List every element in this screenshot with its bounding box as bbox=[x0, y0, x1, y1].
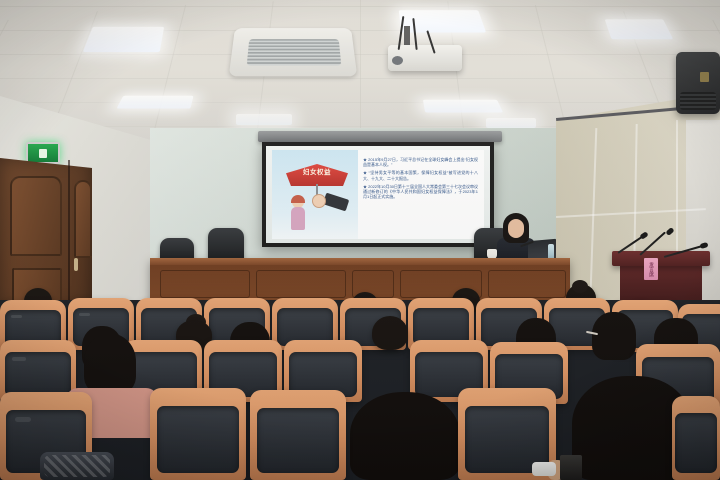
lectern-top bbox=[612, 251, 710, 266]
head-table-top bbox=[150, 258, 570, 265]
seat-notch bbox=[11, 315, 23, 318]
table-front-panel bbox=[160, 270, 250, 298]
table-front-panel bbox=[488, 270, 566, 298]
coffee-cup-lid[interactable] bbox=[532, 462, 556, 476]
slide-paragraph-1: ★ 2015年9月27日，习近平总书记在全球妇女峰会上提出“妇女权益是基本人权。… bbox=[363, 157, 478, 167]
auditorium-seat[interactable] bbox=[150, 388, 246, 480]
panel-light-6 bbox=[236, 114, 292, 125]
panel-light-4 bbox=[423, 100, 503, 113]
door-panel-left bbox=[10, 176, 62, 256]
table-front-panel bbox=[256, 270, 346, 298]
figure-hair bbox=[291, 195, 305, 203]
presenter-face bbox=[508, 219, 524, 238]
lecture-hall-photo: 妇女权益 ★ 2015年9月27日，习近平总书记在全球妇女峰会上提出“妇女权益是… bbox=[0, 0, 720, 480]
speaker-badge-icon bbox=[700, 72, 709, 82]
door-center-seam bbox=[68, 160, 70, 303]
attendee-hair bbox=[350, 392, 460, 480]
exit-running-man-icon bbox=[39, 149, 47, 158]
lectern-sign: 发言席 bbox=[644, 258, 658, 280]
panel-light-3 bbox=[116, 96, 193, 109]
auditorium-seat[interactable] bbox=[250, 390, 346, 480]
attendee-head bbox=[372, 316, 408, 350]
exec-chair-center bbox=[208, 228, 244, 262]
panel-light-7 bbox=[486, 118, 536, 128]
slide-paragraph-3: ★ 2022年10月30日第十三届全国人大常委会第三十七次会议审议通过新修订的《… bbox=[363, 184, 478, 200]
door-handle[interactable] bbox=[74, 258, 78, 271]
seat-pad bbox=[675, 413, 716, 473]
hand-icon bbox=[312, 194, 326, 208]
panel-light-5 bbox=[605, 19, 674, 39]
backpack-pattern bbox=[44, 455, 110, 477]
projection-screen-housing bbox=[258, 131, 502, 142]
seat-notch bbox=[12, 357, 26, 361]
attendee-hair-bun bbox=[572, 280, 588, 293]
coffee-cup[interactable] bbox=[560, 455, 582, 480]
seat-pad bbox=[257, 408, 340, 473]
door-panel-right bbox=[74, 180, 92, 258]
figure-body bbox=[291, 207, 305, 230]
slide-illustration-title: 妇女权益 bbox=[291, 168, 343, 177]
slide-paragraph-2: ★ “坚持男女平等的基本国策，保障妇女权益”被写进党的十八大、十九大、二十大报告… bbox=[363, 170, 478, 180]
slide-illustration: 妇女权益 bbox=[272, 150, 358, 239]
seat-pad bbox=[157, 406, 240, 472]
speaker-grill-icon bbox=[680, 92, 716, 110]
gavel-icon bbox=[323, 193, 350, 212]
seat-notch bbox=[79, 313, 91, 316]
attendee-hair bbox=[592, 312, 636, 360]
exit-sign bbox=[26, 142, 60, 164]
presentation-slide: 妇女权益 ★ 2015年9月27日，习近平总书记在全球妇女峰会上提出“妇女权益是… bbox=[272, 150, 484, 239]
attendee-hair bbox=[84, 334, 136, 394]
slide-text-block: ★ 2015年9月27日，习近平总书记在全球妇女峰会上提出“妇女权益是基本人权。… bbox=[358, 150, 484, 239]
projector-lens-icon bbox=[392, 56, 403, 65]
lectern-sign-text: 发言席 bbox=[648, 262, 654, 277]
auditorium-seat[interactable] bbox=[672, 396, 720, 480]
woman-figure-icon bbox=[290, 196, 306, 230]
panel-light-1 bbox=[83, 27, 164, 52]
seat-notch bbox=[15, 417, 32, 422]
ac-vent-grill bbox=[247, 39, 342, 66]
